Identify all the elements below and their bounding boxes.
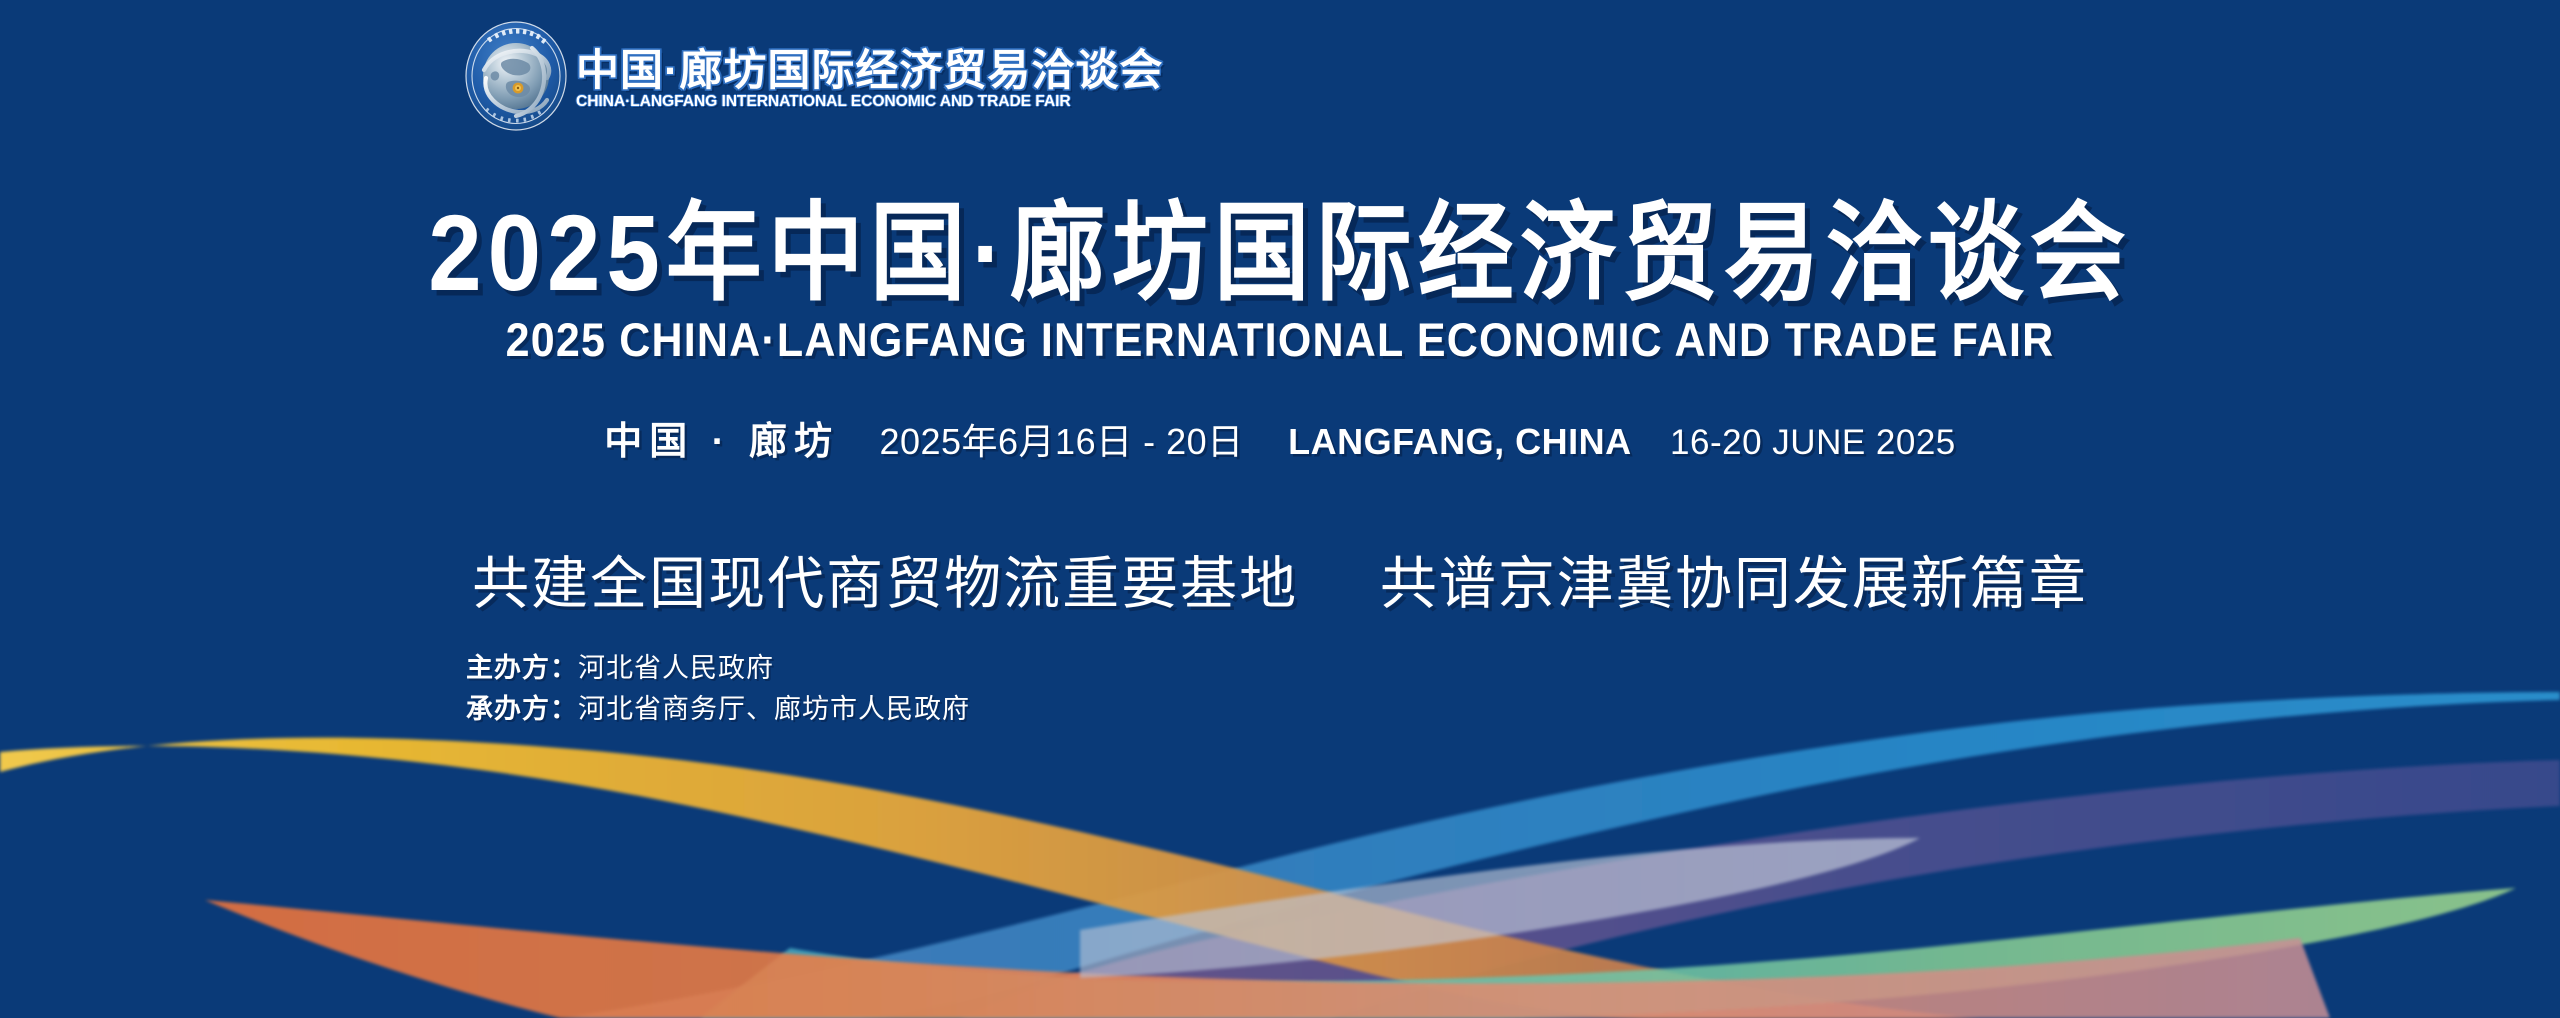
decorative-wave-artwork [0, 0, 2560, 1018]
slogan-part-one: 共建全国现代商贸物流重要基地 [472, 552, 1298, 616]
organizer-list: 主办方：河北省人民政府 承办方：河北省商务厅、廊坊市人民政府 [466, 648, 970, 730]
event-date-location-line: 中国 · 廊坊 2025年6月16日 - 20日 LANGFANG, CHINA… [0, 410, 2560, 465]
poster-canvas: 中国·廊坊国际经济贸易洽谈会 CHINA·LANGFANG INTERNATIO… [0, 0, 2560, 1018]
event-city-english: LANGFANG, CHINA [1288, 421, 1632, 463]
event-slogan: 共建全国现代商贸物流重要基地 共谱京津冀协同发展新篇章 [0, 548, 2560, 620]
organizer-value-coorganizer: 河北省商务厅、廊坊市人民政府 [578, 694, 970, 724]
headline-block: 2025年中国·廊坊国际经济贸易洽谈会 2025 CHINA·LANGFANG … [0, 196, 2560, 362]
organizer-label-host: 主办方： [466, 653, 578, 683]
event-city-chinese: 中国 · 廊坊 [604, 410, 839, 465]
main-title-chinese: 2025年中国·廊坊国际经济贸易洽谈会 [0, 196, 2560, 312]
event-date-english: 16-20 JUNE 2025 [1670, 423, 1956, 463]
organizer-row-coorganizer: 承办方：河北省商务厅、廊坊市人民政府 [466, 689, 970, 730]
main-title-english: 2025 CHINA·LANGFANG INTERNATIONAL ECONOM… [0, 314, 2560, 367]
slogan-part-two: 共谱京津冀协同发展新篇章 [1380, 552, 2088, 616]
fair-logo-lockup: 中国·廊坊国际经济贸易洽谈会 CHINA·LANGFANG INTERNATIO… [462, 18, 1163, 134]
organizer-label-coorganizer: 承办方： [466, 694, 578, 724]
event-date-chinese: 2025年6月16日 - 20日 [879, 413, 1243, 465]
globe-emblem-icon [462, 20, 570, 132]
organizer-row-host: 主办方：河北省人民政府 [466, 648, 970, 689]
logo-wordmark: 中国·廊坊国际经济贸易洽谈会 CHINA·LANGFANG INTERNATIO… [576, 42, 1163, 111]
logo-wordmark-en: CHINA·LANGFANG INTERNATIONAL ECONOMIC AN… [576, 93, 1169, 111]
organizer-value-host: 河北省人民政府 [578, 653, 774, 683]
logo-wordmark-cn: 中国·廊坊国际经济贸易洽谈会 [576, 48, 1163, 94]
